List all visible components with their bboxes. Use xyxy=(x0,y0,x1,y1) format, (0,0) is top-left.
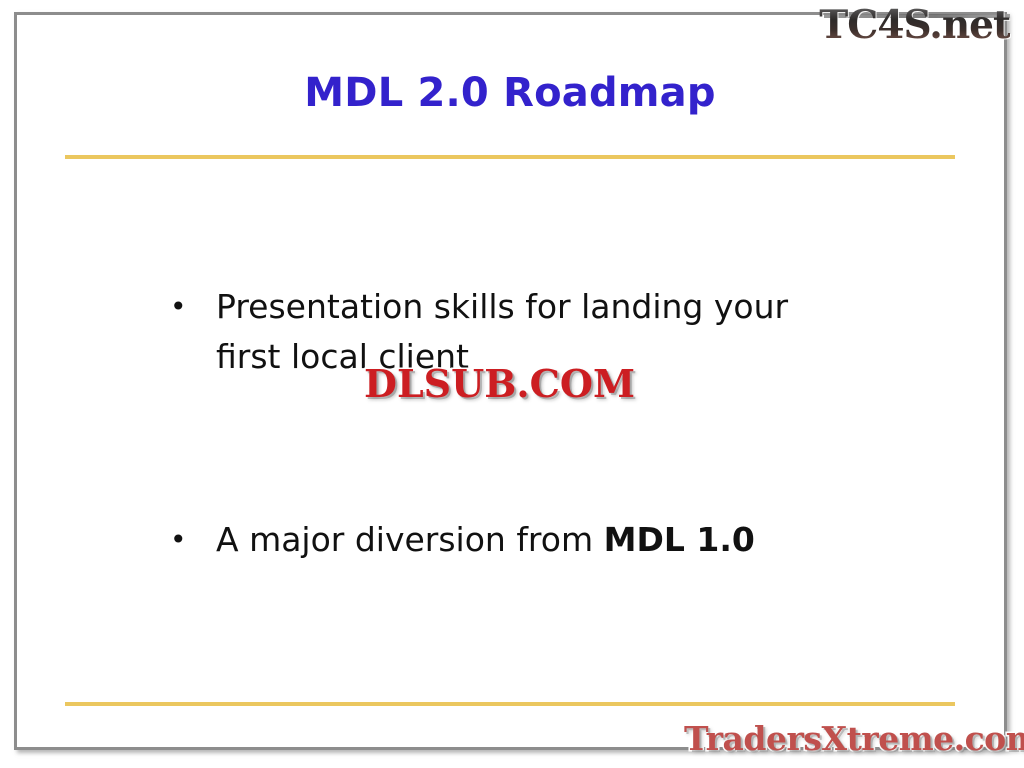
page-title: MDL 2.0 Roadmap xyxy=(60,70,960,116)
list-item: • Presentation skills for landing your f… xyxy=(170,282,910,382)
list-item-text-lead: Presentation skills for landing your fir… xyxy=(216,287,788,376)
bullet-point-icon: • xyxy=(170,515,216,565)
list-item-text: A major diversion from MDL 1.0 xyxy=(216,515,856,565)
list-item-text-lead: A major diversion from xyxy=(216,520,604,559)
divider-rule-top xyxy=(65,155,955,159)
bullet-list: • Presentation skills for landing your f… xyxy=(170,282,910,565)
list-item-text: Presentation skills for landing your fir… xyxy=(216,282,856,382)
slide-root: MDL 2.0 Roadmap • Presentation skills fo… xyxy=(0,0,1024,768)
divider-rule-bottom xyxy=(65,702,955,706)
list-item: • A major diversion from MDL 1.0 xyxy=(170,515,910,565)
bullet-point-icon: • xyxy=(170,282,216,332)
list-item-text-emphasis: MDL 1.0 xyxy=(604,520,755,559)
watermark-tc4s-strike-decoration xyxy=(824,14,1010,18)
